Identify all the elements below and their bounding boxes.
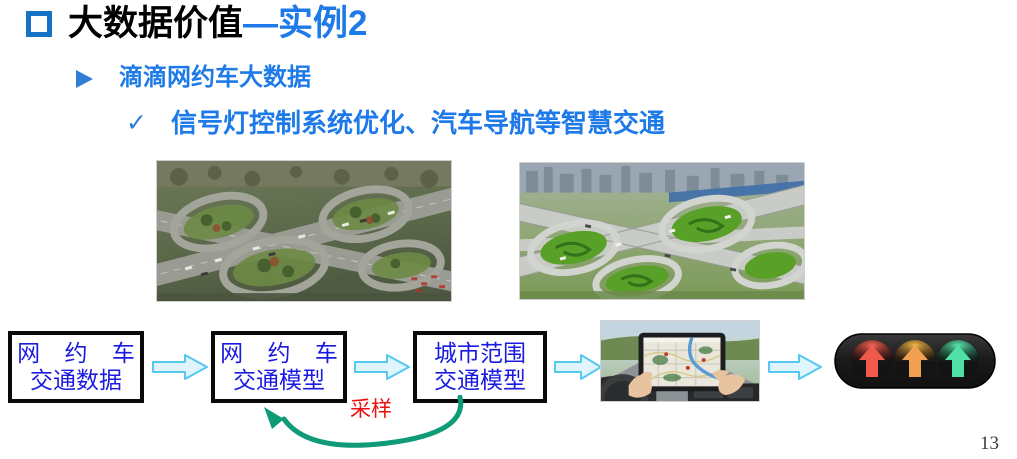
page-number: 13 bbox=[980, 434, 999, 453]
green-arrow-lamp bbox=[937, 340, 979, 382]
checkmark-bullet-icon: ✓ bbox=[126, 111, 147, 136]
flow-box-line-2: 交通模型 bbox=[434, 367, 526, 394]
flow-box-ride-hailing-model: 网 约 车 交通模型 bbox=[211, 331, 347, 403]
bullet-level-2: 滴滴网约车大数据 bbox=[76, 66, 311, 90]
red-arrow-lamp bbox=[851, 340, 893, 382]
page-title: 大数据价值—实例2 bbox=[68, 6, 367, 41]
highway-interchange-aerial-right-photo bbox=[519, 162, 805, 300]
amber-arrow-lamp bbox=[894, 340, 936, 382]
bullet-level-3-label: 信号灯控制系统优化、汽车导航等智慧交通 bbox=[171, 110, 665, 136]
arrowhead-bullet-icon bbox=[76, 70, 93, 88]
tablet-navigation-in-car-photo bbox=[600, 320, 760, 402]
flow-box-line-1: 网 约 车 bbox=[8, 340, 144, 367]
hollow-square-bullet-icon bbox=[26, 11, 52, 37]
flow-arrow-4-icon bbox=[768, 353, 822, 381]
highway-interchange-aerial-left-photo bbox=[156, 160, 452, 302]
flow-box-line-2: 交通模型 bbox=[233, 367, 325, 394]
slide-title: 大数据价值—实例2 bbox=[26, 6, 367, 41]
flow-box-city-wide-model: 城市范围 交通模型 bbox=[413, 331, 547, 403]
flow-arrow-3-icon bbox=[554, 353, 602, 381]
flow-box-ride-hailing-data: 网 约 车 交通数据 bbox=[8, 331, 144, 403]
flow-arrow-1-icon bbox=[152, 353, 208, 381]
flow-box-line-1: 城市范围 bbox=[434, 340, 526, 367]
sampling-label: 采样 bbox=[350, 399, 392, 420]
flow-box-line-1: 网 约 车 bbox=[211, 340, 347, 367]
slide-canvas: 大数据价值—实例2 滴滴网约车大数据 ✓ 信号灯控制系统优化、汽车导航等智慧交通 bbox=[0, 0, 1017, 459]
traffic-light-three-arrows bbox=[834, 333, 996, 389]
flow-box-line-2: 交通数据 bbox=[30, 367, 122, 394]
bullet-level-2-label: 滴滴网约车大数据 bbox=[119, 66, 311, 90]
page-title-accent: —实例2 bbox=[243, 4, 367, 43]
bullet-level-3: ✓ 信号灯控制系统优化、汽车导航等智慧交通 bbox=[126, 110, 665, 136]
page-title-primary: 大数据价值 bbox=[68, 4, 243, 43]
flow-arrow-2-icon bbox=[354, 353, 410, 381]
